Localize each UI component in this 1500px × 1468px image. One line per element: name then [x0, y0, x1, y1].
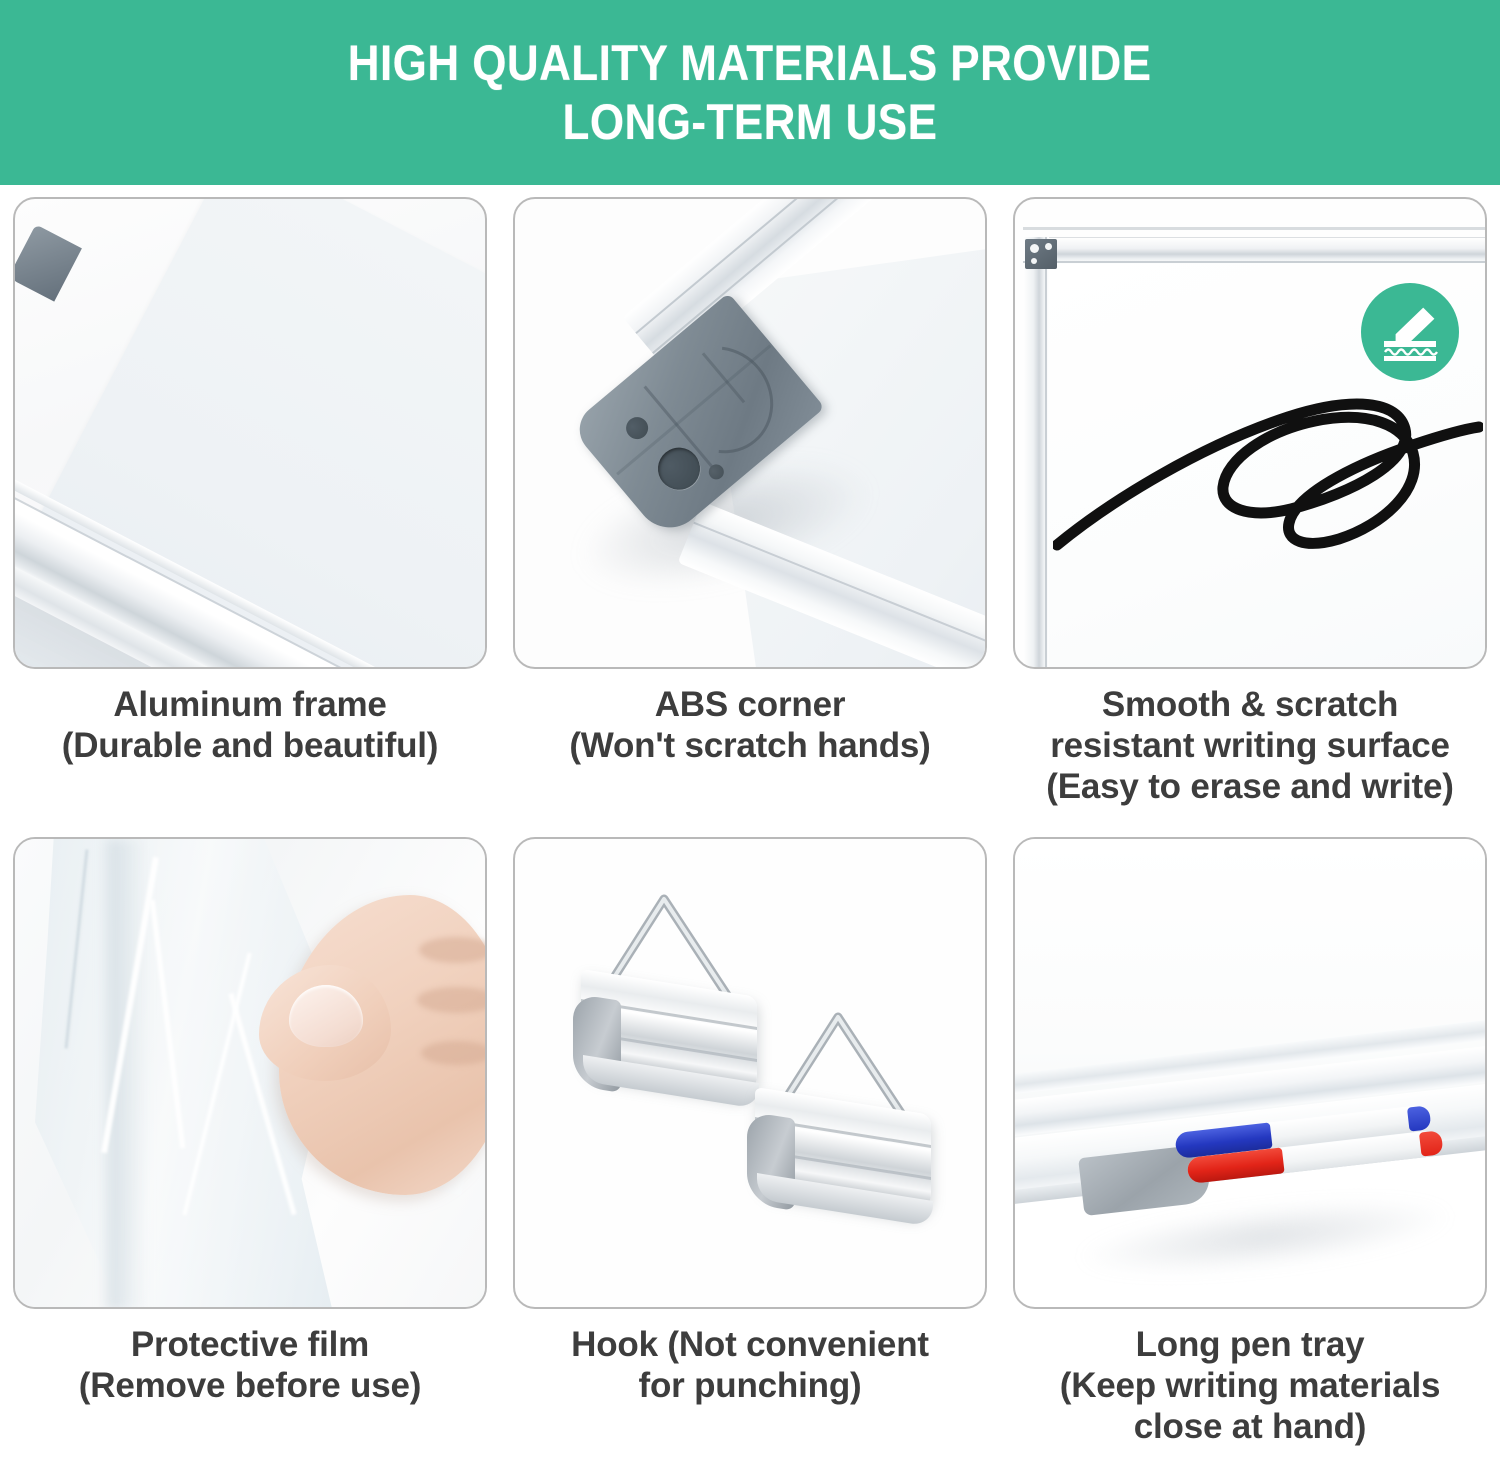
feature-cell-writing-surface: Smooth & scratch resistant writing surfa…	[1000, 185, 1500, 825]
long-pen-tray-photo	[1013, 837, 1487, 1309]
board-top-edge	[1023, 227, 1487, 230]
caption-line: close at hand)	[1015, 1407, 1485, 1448]
header-title-line-1: HIGH QUALITY MATERIALS PROVIDE	[348, 34, 1152, 93]
caption-protective-film: Protective film (Remove before use)	[15, 1325, 485, 1407]
feature-cell-protective-film: Protective film (Remove before use)	[0, 825, 500, 1468]
caption-line: Smooth & scratch	[1015, 685, 1485, 726]
caption-hook: Hook (Not convenient for punching)	[515, 1325, 985, 1407]
caption-line: ABS corner	[515, 685, 985, 726]
header-banner: HIGH QUALITY MATERIALS PROVIDE LONG-TERM…	[0, 0, 1500, 185]
writing-surface-photo	[1013, 197, 1487, 669]
caption-line: (Easy to erase and write)	[1015, 767, 1485, 808]
caption-line: (Won't scratch hands)	[515, 726, 985, 767]
caption-abs-corner: ABS corner (Won't scratch hands)	[515, 685, 985, 767]
feature-cell-abs-corner: ABS corner (Won't scratch hands)	[500, 185, 1000, 825]
corner-piece	[13, 224, 82, 301]
hook-photo	[513, 837, 987, 1309]
caption-line: for punching)	[515, 1366, 985, 1407]
marker-scribble	[1053, 349, 1483, 579]
protective-film-photo	[13, 837, 487, 1309]
caption-line: (Durable and beautiful)	[15, 726, 485, 767]
pen-on-surface-icon	[1379, 301, 1441, 363]
caption-line: Aluminum frame	[15, 685, 485, 726]
smooth-surface-badge	[1361, 283, 1459, 381]
caption-long-pen-tray: Long pen tray (Keep writing materials cl…	[1015, 1325, 1485, 1448]
screw-hole-small	[622, 413, 653, 444]
header-title-line-2: LONG-TERM USE	[563, 93, 938, 152]
film-shadow	[107, 839, 147, 1309]
feature-cell-aluminum-frame: Aluminum frame (Durable and beautiful)	[0, 185, 500, 825]
corner-bracket	[1025, 239, 1057, 269]
caption-writing-surface: Smooth & scratch resistant writing surfa…	[1015, 685, 1485, 808]
hook-item	[573, 891, 763, 1101]
caption-line: Hook (Not convenient	[515, 1325, 985, 1366]
caption-line: Long pen tray	[1015, 1325, 1485, 1366]
feature-cell-hook: Hook (Not convenient for punching)	[500, 825, 1000, 1468]
caption-line: (Remove before use)	[15, 1366, 485, 1407]
abs-corner-photo	[513, 197, 987, 669]
feature-cell-long-pen-tray: Long pen tray (Keep writing materials cl…	[1000, 825, 1500, 1468]
caption-aluminum-frame: Aluminum frame (Durable and beautiful)	[15, 685, 485, 767]
product-feature-infographic: HIGH QUALITY MATERIALS PROVIDE LONG-TERM…	[0, 0, 1500, 1468]
caption-line: (Keep writing materials	[1015, 1366, 1485, 1407]
frame-top-rail	[1023, 237, 1487, 264]
thumbnail	[289, 985, 363, 1047]
aluminum-frame-photo	[13, 197, 487, 669]
frame-top-groove	[1023, 261, 1487, 263]
caption-line: resistant writing surface	[1015, 726, 1485, 767]
frame-left-groove	[1045, 237, 1047, 669]
feature-grid: Aluminum frame (Durable and beautiful)	[0, 185, 1500, 1468]
caption-line: Protective film	[15, 1325, 485, 1366]
hook-item	[747, 1009, 937, 1219]
frame-corner-assembly	[515, 199, 987, 669]
